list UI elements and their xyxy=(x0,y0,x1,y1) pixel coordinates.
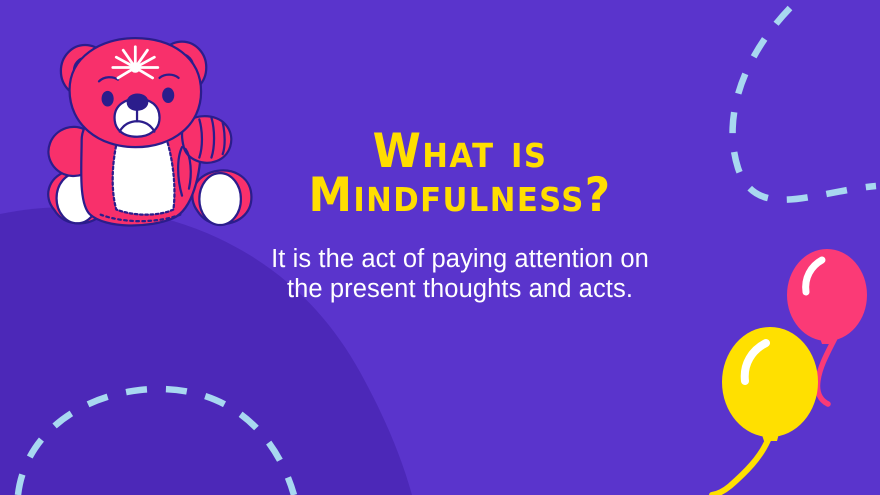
slide-text-block: What is Mindfulness? It is the act of pa… xyxy=(200,130,720,305)
page-subtitle: It is the act of paying attention on the… xyxy=(200,218,720,304)
slide-canvas: What is Mindfulness? It is the act of pa… xyxy=(0,0,880,495)
page-title: What is Mindfulness? xyxy=(218,130,702,218)
